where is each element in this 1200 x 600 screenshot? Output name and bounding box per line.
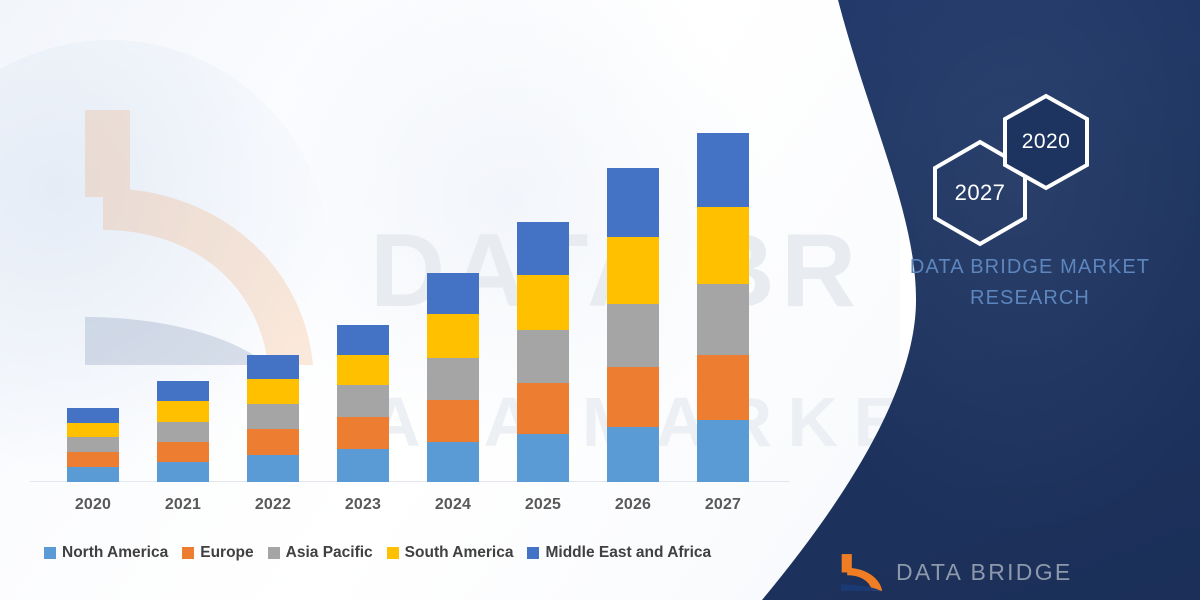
bar-segment [427,400,479,441]
bar-segment [157,462,209,482]
chart-legend: North AmericaEuropeAsia PacificSouth Ame… [44,540,784,566]
bar-segment [67,467,119,482]
x-axis-tick-label: 2025 [517,496,569,514]
bar-segment [517,275,569,330]
hexagon-year-2027-label: 2027 [955,180,1006,206]
bar-segment [337,355,389,386]
bar-group [247,355,299,482]
x-axis-tick-label: 2023 [337,496,389,514]
bar-segment [517,330,569,383]
footer-logo: DATA BRIDGE [838,552,1073,592]
bar-segment [607,427,659,482]
legend-item[interactable]: Asia Pacific [268,544,373,562]
legend-item[interactable]: Middle East and Africa [527,544,711,562]
bar-segment [517,434,569,482]
bar-segment [67,423,119,438]
legend-item[interactable]: North America [44,544,168,562]
bar-segment [607,237,659,304]
bar-segment [67,437,119,452]
legend-label: Europe [200,544,253,562]
legend-swatch-icon [387,547,399,559]
bar-segment [427,358,479,400]
bar-segment [67,408,119,423]
bar-segment [157,401,209,421]
x-axis-tick-label: 2020 [67,496,119,514]
x-axis-tick-label: 2026 [607,496,659,514]
bar-segment [607,367,659,426]
bar-segment [247,429,299,456]
chart-plot-area [48,100,768,482]
bar-segment [337,325,389,355]
bar-segment [427,314,479,358]
legend-label: Middle East and Africa [545,544,711,562]
hexagon-year-2020-label: 2020 [1022,130,1070,154]
bar-segment [247,355,299,379]
brand-name-line1: DATA BRIDGE MARKET [880,252,1180,283]
legend-item[interactable]: Europe [182,544,253,562]
footer-logo-wordmark: DATA BRIDGE [896,559,1073,586]
legend-label: Asia Pacific [286,544,373,562]
bar-group [697,133,749,482]
bar-group [67,408,119,482]
bar-segment [247,404,299,429]
hexagon-year-2020: 2020 [1000,92,1092,192]
bar-segment [247,379,299,403]
bar-segment [67,452,119,467]
bar-segment [427,442,479,482]
bar-segment [517,383,569,434]
bar-group [157,381,209,482]
bar-segment [697,207,749,283]
bridge-logo-icon [838,552,884,592]
bar-segment [697,284,749,355]
stacked-bar-chart: 20202021202220232024202520262027 [0,0,820,600]
legend-swatch-icon [268,547,280,559]
legend-swatch-icon [182,547,194,559]
legend-swatch-icon [527,547,539,559]
chart-screenshot: DATA BR ATA MARKET RESEARCH 202020212022… [0,0,1200,600]
bar-segment [157,381,209,401]
bar-segment [697,133,749,207]
x-axis-tick-label: 2024 [427,496,479,514]
x-axis-tick-label: 2021 [157,496,209,514]
bar-segment [607,168,659,237]
bar-segment [697,420,749,482]
bar-segment [517,222,569,275]
bar-group [427,273,479,482]
bar-segment [427,273,479,314]
brand-name-line2: RESEARCH [880,283,1180,314]
bar-group [337,325,389,482]
bar-segment [157,442,209,462]
legend-item[interactable]: South America [387,544,514,562]
bar-segment [247,455,299,482]
x-axis-tick-label: 2027 [697,496,749,514]
bar-segment [337,417,389,449]
bar-group [517,222,569,482]
legend-swatch-icon [44,547,56,559]
bar-segment [607,304,659,368]
bar-segment [697,355,749,421]
bar-segment [337,385,389,417]
x-axis-labels: 20202021202220232024202520262027 [48,488,768,522]
legend-label: South America [405,544,514,562]
bar-group [607,168,659,482]
legend-label: North America [62,544,168,562]
bar-segment [157,422,209,442]
x-axis-tick-label: 2022 [247,496,299,514]
bar-segment [337,449,389,482]
brand-name: DATA BRIDGE MARKET RESEARCH [880,252,1180,314]
